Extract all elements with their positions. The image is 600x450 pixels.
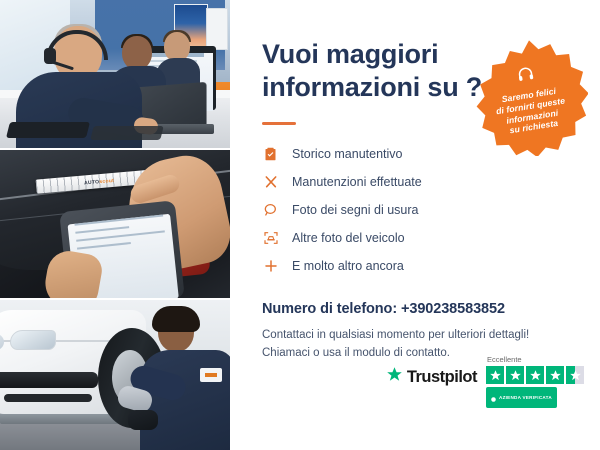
list-item: Manutenzioni effettuate bbox=[262, 169, 600, 195]
content-panel: Vuoi maggiori informazioni su ? Storico … bbox=[230, 0, 600, 450]
list-item-label: Foto dei segni di usura bbox=[292, 203, 418, 217]
plus-icon bbox=[262, 257, 279, 274]
verified-business-badge: AZIENDA VERIFICATA bbox=[486, 387, 557, 408]
list-item-label: Altre foto del veicolo bbox=[292, 231, 405, 245]
keyboard bbox=[6, 122, 90, 138]
list-item: Foto dei segni di usura bbox=[262, 197, 600, 223]
trustpilot-logo: Trustpilot bbox=[386, 366, 477, 388]
list-item: Altre foto del veicolo bbox=[262, 225, 600, 251]
list-item-label: Manutenzioni effettuate bbox=[292, 175, 422, 189]
feature-list: Storico manutentivo Manutenzioni effettu… bbox=[262, 141, 600, 279]
trustpilot-rating[interactable]: Trustpilot Eccellente AZIENDA VERIFICATA bbox=[386, 355, 584, 408]
car-frame-icon bbox=[262, 229, 279, 246]
list-item: E molto altro ancora bbox=[262, 253, 600, 279]
title-divider bbox=[262, 122, 296, 125]
phone-label: Numero di telefono: bbox=[262, 301, 397, 317]
uniform-badge bbox=[200, 368, 222, 382]
headlight-secondary bbox=[0, 334, 4, 350]
star-filled bbox=[486, 366, 504, 384]
headset-icon bbox=[515, 64, 536, 90]
torso bbox=[140, 350, 230, 450]
wall-poster-secondary bbox=[206, 8, 228, 50]
magnifier-icon bbox=[262, 201, 279, 218]
front-grill bbox=[0, 372, 98, 388]
badge-content: Saremo felici di fornirti queste informa… bbox=[462, 29, 597, 162]
bodywork-inspection-photo: AUTOscout bbox=[0, 150, 230, 298]
request-info-badge: Saremo felici di fornirti queste informa… bbox=[470, 38, 588, 154]
trustpilot-score: Eccellente AZIENDA VERIFICATA bbox=[486, 355, 584, 408]
star-partial bbox=[566, 366, 584, 384]
trustpilot-star-icon bbox=[386, 366, 403, 388]
star-filled bbox=[526, 366, 544, 384]
mechanic bbox=[134, 306, 230, 450]
phone-number-line: Numero di telefono: +390238583852 bbox=[262, 301, 600, 317]
rating-label: Eccellente bbox=[487, 355, 522, 364]
photo-column: AUTOscout bbox=[0, 0, 230, 450]
screen-row bbox=[77, 242, 130, 250]
list-item-label: Storico manutentivo bbox=[292, 147, 402, 161]
lower-grill bbox=[4, 394, 92, 402]
screen-row bbox=[74, 214, 163, 225]
list-item-label: E molto altro ancora bbox=[292, 259, 404, 273]
clipboard-check-icon bbox=[262, 145, 279, 162]
call-center-photo bbox=[0, 0, 230, 148]
verified-check-icon bbox=[491, 389, 496, 407]
star-rating bbox=[486, 366, 584, 384]
tools-cross-icon bbox=[262, 173, 279, 190]
star-filled bbox=[506, 366, 524, 384]
headline-line-2: informazioni su ? bbox=[262, 72, 482, 102]
hair bbox=[152, 306, 200, 332]
contact-line-1: Contattaci in qualsiasi momento per ulte… bbox=[262, 329, 529, 341]
glove-lower bbox=[128, 410, 158, 430]
wheel-inspection-photo bbox=[0, 300, 230, 450]
verified-label: AZIENDA VERIFICATA bbox=[499, 395, 552, 400]
headlight bbox=[10, 330, 56, 350]
phone-number[interactable]: +390238583852 bbox=[401, 301, 505, 317]
screen-row bbox=[75, 226, 128, 234]
promo-poster: AUTOscout bbox=[0, 0, 600, 450]
star-filled bbox=[546, 366, 564, 384]
trustpilot-wordmark: Trustpilot bbox=[407, 368, 477, 387]
keyboard-secondary bbox=[90, 126, 163, 140]
headline-line-1: Vuoi maggiori bbox=[262, 39, 438, 69]
